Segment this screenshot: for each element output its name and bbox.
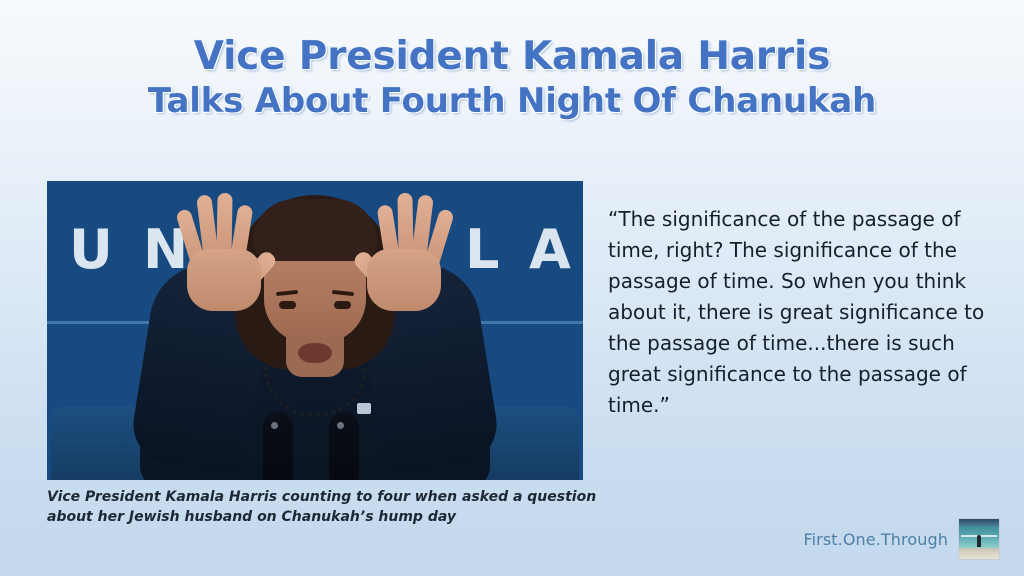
eyebrow-right	[332, 290, 354, 296]
quote-text: “The significance of the passage of time…	[608, 204, 998, 421]
microphone-left	[263, 412, 293, 480]
logo-sky	[959, 519, 999, 526]
palm	[187, 249, 261, 311]
hand-right	[359, 203, 451, 311]
presentation-slide: Vice President Kamala Harris Talks About…	[0, 0, 1024, 576]
logo-person	[977, 535, 981, 547]
palm	[367, 249, 441, 311]
photo-caption: Vice President Kamala Harris counting to…	[47, 487, 607, 527]
harris-photo: U N L A	[47, 181, 583, 480]
lapel-pin	[357, 403, 371, 414]
logo-sand	[959, 548, 999, 559]
microphone-right	[329, 412, 359, 480]
footer-branding: First.One.Through	[804, 518, 1001, 560]
eye-right	[334, 301, 351, 309]
figure-group	[47, 181, 583, 480]
microphone-detail	[271, 422, 278, 429]
slide-title: Vice President Kamala Harris Talks About…	[0, 34, 1024, 122]
hand-left	[179, 203, 271, 311]
eye-left	[279, 301, 296, 309]
title-line-1: Vice President Kamala Harris	[0, 34, 1024, 80]
brand-name: First.One.Through	[804, 530, 949, 549]
mouth	[298, 343, 332, 363]
title-line-2: Talks About Fourth Night Of Chanukah	[0, 80, 1024, 122]
eyebrow-left	[276, 290, 298, 296]
brand-logo-icon	[958, 518, 1000, 560]
microphone-detail	[337, 422, 344, 429]
